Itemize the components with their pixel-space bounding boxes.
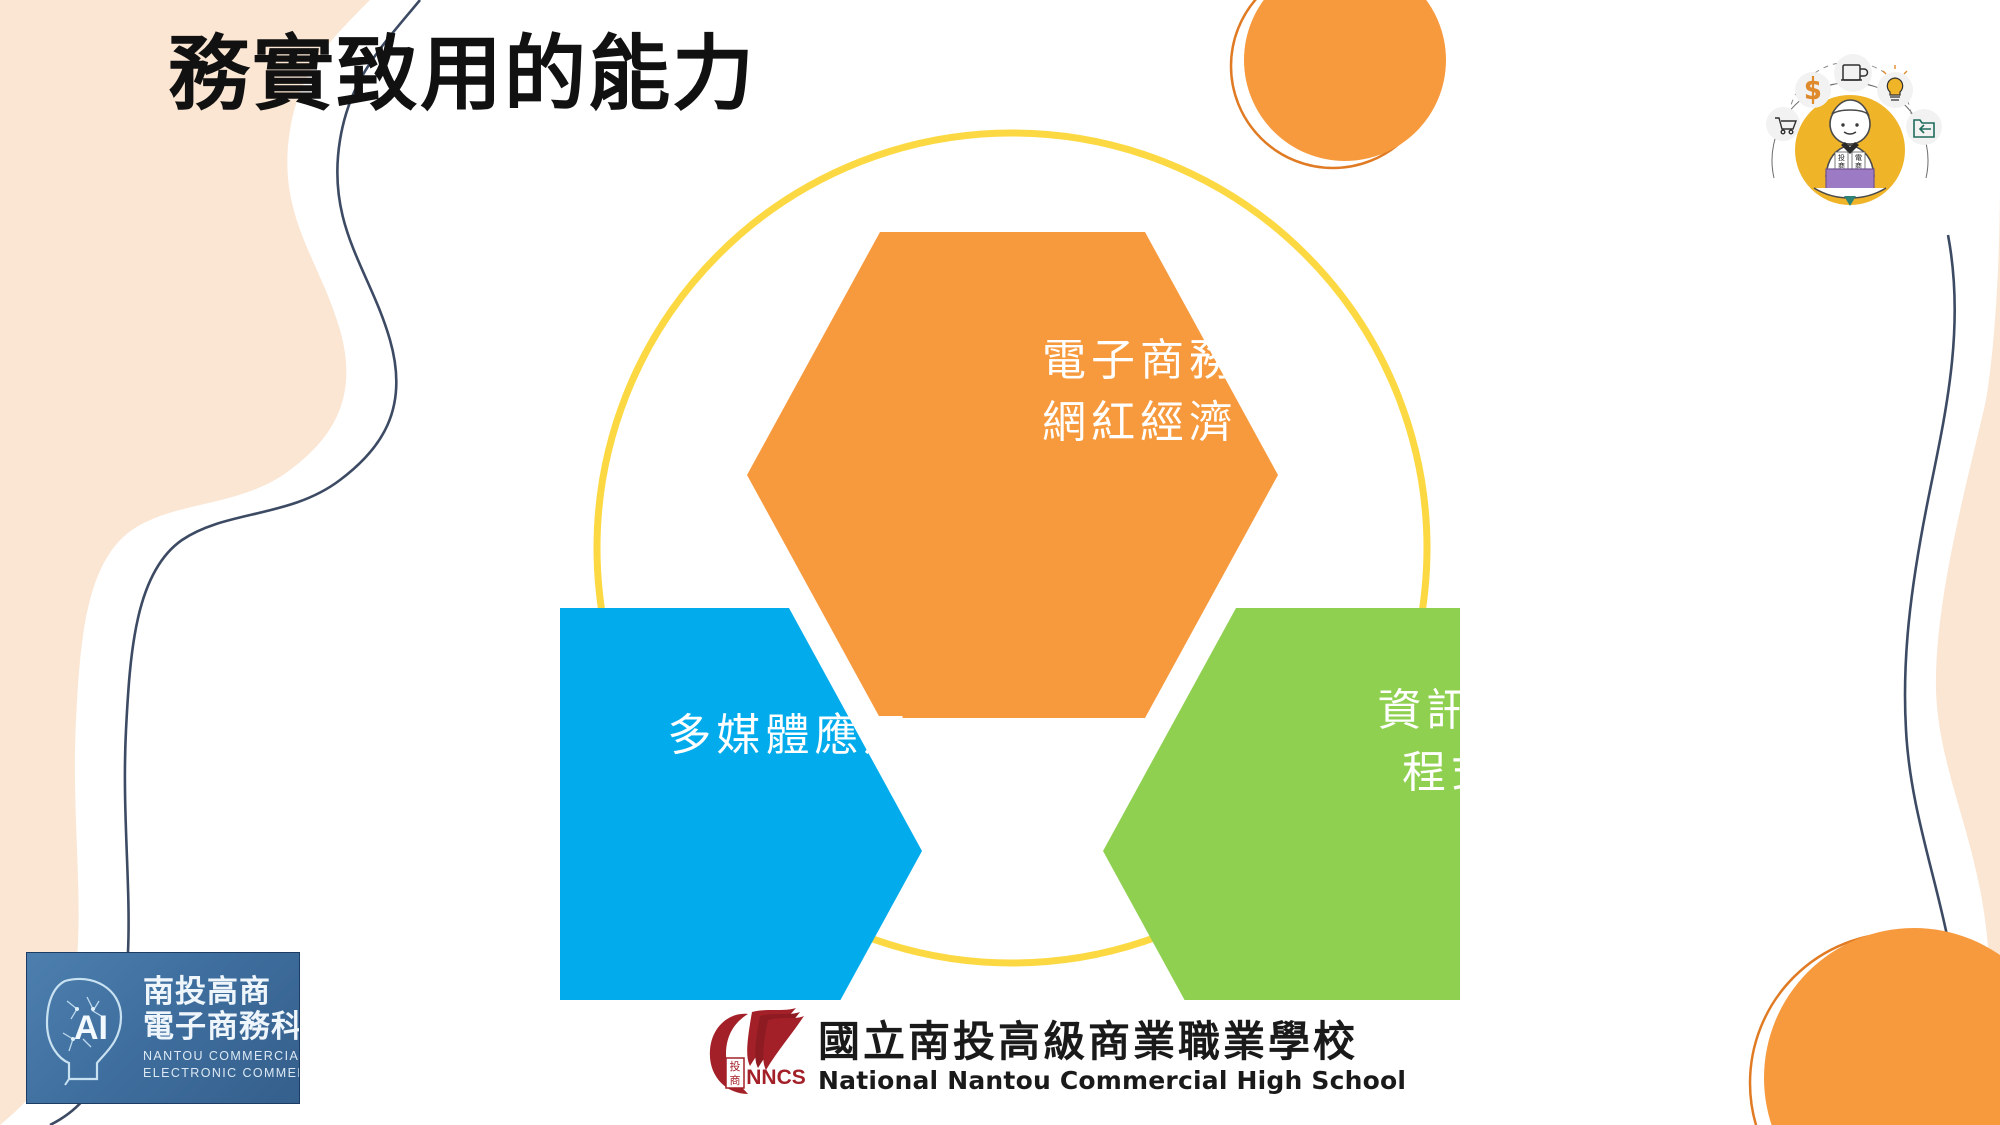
emblem-mark-en: NNCS (746, 1066, 806, 1089)
ai-mark-text: AI (74, 1009, 108, 1047)
bottom-right-circle (1764, 928, 2000, 1125)
right-blob-outline (1905, 235, 1963, 1125)
ai-brain-icon: AI (35, 967, 143, 1087)
hexagon-ecommerce[interactable] (747, 232, 1278, 718)
nncs-emblem-icon: 投 商 NNCS (700, 1006, 820, 1106)
page-title: 務實致用的能力 (168, 28, 756, 122)
laptop (1826, 169, 1874, 191)
right-peach-blob (1936, 180, 2000, 1125)
emblem-mark-cn-2: 商 (730, 1073, 741, 1087)
department-ai-logo: AI 南投高商 電子商務科 NANTOU COMMERCIAL ELECTRON… (26, 952, 300, 1104)
ai-logo-line-en-1: NANTOU COMMERCIAL (143, 1048, 300, 1065)
competency-hexagon-diagram: 電子商務 網紅經濟 多媒體應用 資訊應用與 程式設計 (560, 100, 1460, 1000)
slide-canvas: 務實致用的能力 電子商務 網紅經濟 多媒體應用 資訊應用與 程式設計 (0, 0, 2000, 1125)
hexagon-diagram-svg (560, 100, 1460, 1000)
bottom-right-circle-ring (1750, 933, 2000, 1125)
ai-logo-line-cn-2: 電子商務科 (143, 1010, 300, 1045)
badge-right-text: 電 (1855, 154, 1862, 162)
ai-logo-line-cn-1: 南投高商 (143, 975, 300, 1010)
ecommerce-illustration: 投 商 電 商 S (1740, 28, 1960, 208)
emblem-mark-cn-1: 投 (730, 1059, 741, 1073)
school-name-english: National Nantou Commercial High School (818, 1066, 1406, 1095)
school-logo: 投 商 NNCS 國立南投高級商業職業學校 National Nantou Co… (700, 1004, 1300, 1114)
ai-logo-line-en-2: ELECTRONIC COMMERCE (143, 1065, 300, 1082)
school-name-chinese: 國立南投高級商業職業學校 (818, 1008, 1358, 1069)
ai-logo-text-block: 南投高商 電子商務科 NANTOU COMMERCIAL ELECTRONIC … (143, 975, 300, 1082)
badge-left-text: 投 (1838, 153, 1845, 162)
